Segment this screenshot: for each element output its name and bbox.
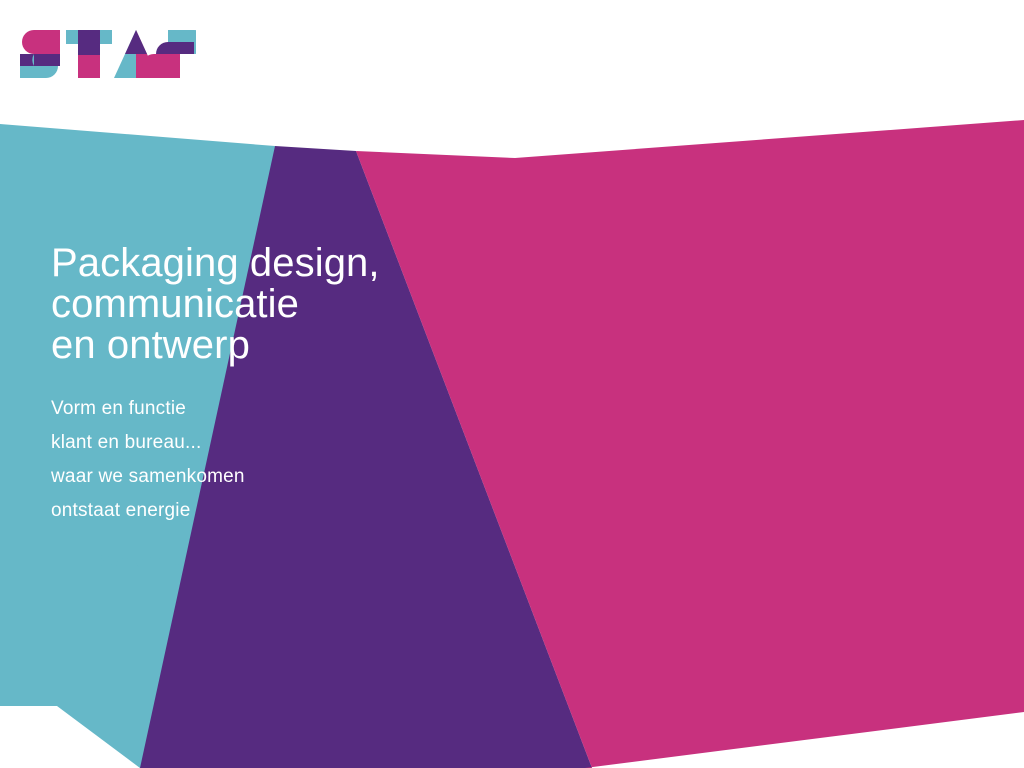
logo-letter-s-first [20, 30, 60, 78]
slide-canvas: Packaging design, communicatie en ontwer… [0, 0, 1024, 768]
body-line: Vorm en functie [51, 392, 571, 426]
body-line: klant en bureau... [51, 426, 571, 460]
page-title: Packaging design, communicatie en ontwer… [51, 243, 611, 366]
tagline: Synergie [100, 550, 182, 574]
logo-letter-s-second [142, 30, 196, 78]
body-line: waar we samenkomen [51, 460, 571, 494]
body-line: ontstaat energie [51, 494, 571, 528]
logo-letter-t [66, 30, 112, 78]
body-copy: Vorm en functie klant en bureau... waar … [51, 392, 571, 528]
stas-logo[interactable] [18, 28, 196, 80]
background-shapes [0, 0, 1024, 768]
